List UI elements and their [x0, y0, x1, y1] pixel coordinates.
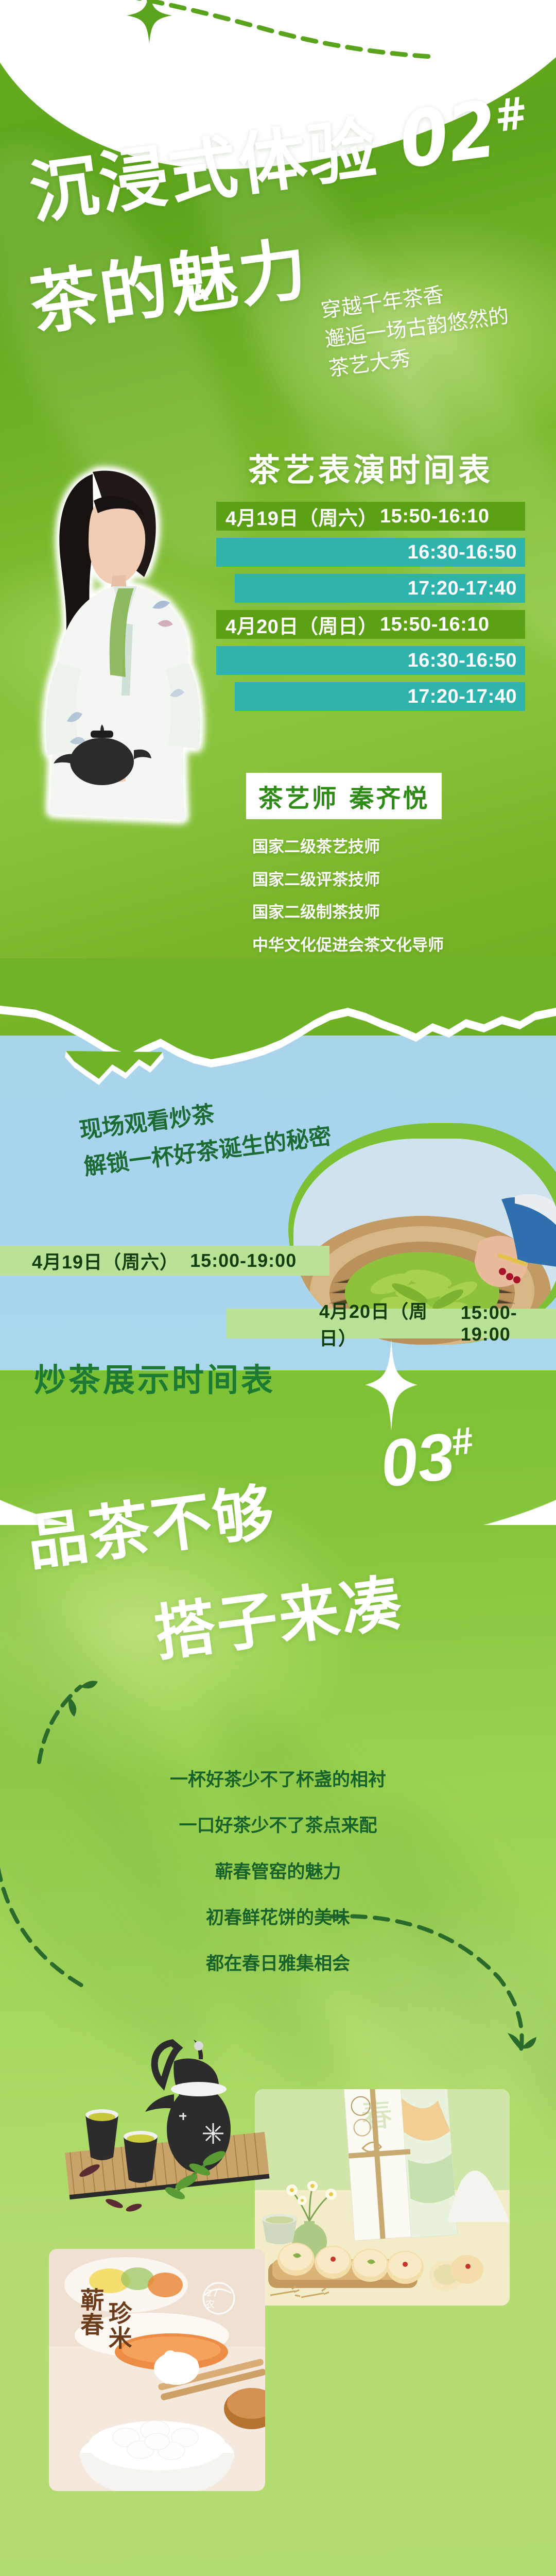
schedule-row: 17:20-17:40	[235, 574, 525, 603]
rice-brand-label-col2: 珍米	[106, 2301, 131, 2350]
body-line: 都在春日雅集相会	[0, 1941, 556, 1987]
schedule-row-time: 15:50-16:10	[380, 505, 490, 528]
schedule-row: 16:30-16:50	[216, 646, 525, 675]
stirfry-time: 15:00-19:00	[190, 1250, 297, 1272]
torn-paper-flap	[62, 1051, 165, 1087]
artist-credentials: 国家二级茶艺技师 国家二级评茶技师 国家二级制茶技师 中华文化促进会茶文化导师	[252, 831, 444, 961]
stirfry-date-bar: 4月20日（周日） 15:00-19:00	[227, 1309, 556, 1338]
svg-text:27: 27	[206, 2288, 218, 2299]
stirfry-date: 4月19日（周六）	[32, 1247, 179, 1274]
schedule-row-date: 4月20日（周日）	[225, 611, 380, 639]
schedule-title: 茶艺表演时间表	[216, 444, 525, 490]
schedule-row: 4月20日（周日） 15:50-16:10	[216, 610, 525, 639]
svg-text:农: 农	[205, 2299, 215, 2310]
schedule-row-date: 4月19日（周六）	[225, 502, 380, 531]
poster-page: 沉浸式体验 02# 茶的魅力 穿越千年茶香 邂逅一场古韵悠然的 茶艺大秀	[0, 0, 556, 2576]
peak-sparkle-icon	[360, 1340, 422, 1435]
credential-item: 国家二级评茶技师	[252, 863, 444, 896]
hero-badge-hash: #	[491, 87, 533, 143]
stirfry-schedule-title: 炒茶展示时间表	[34, 1354, 275, 1400]
body-line: 初春鲜花饼的美味	[0, 1895, 556, 1941]
section3-badge-number: 03	[376, 1419, 459, 1501]
artist-name: 茶艺师 秦齐悦	[258, 778, 430, 814]
stirfry-time: 15:00-19:00	[461, 1302, 556, 1345]
schedule-row: 17:20-17:40	[235, 682, 525, 711]
tea-set-photo	[51, 2012, 293, 2218]
rice-brand-label-col1: 蕲春	[78, 2287, 103, 2337]
credential-item: 中华文化促进会茶文化导师	[252, 929, 444, 962]
rice-brand-label: 蕲春珍米	[78, 2287, 181, 2350]
artist-nameplate: 茶艺师 秦齐悦	[246, 773, 442, 819]
hero-title-line2: 茶的魅力	[23, 214, 314, 348]
credential-item: 国家二级制茶技师	[252, 896, 444, 929]
schedule-row-time: 17:20-17:40	[407, 686, 517, 708]
body-line: 一口好茶少不了茶点来配	[0, 1803, 556, 1849]
section3-badge: 03#	[376, 1415, 480, 1502]
tea-artist-photo	[15, 453, 232, 835]
body-line: 一杯好茶少不了杯盏的相衬	[0, 1757, 556, 1803]
body-line: 蕲春管窑的魅力	[0, 1849, 556, 1895]
stirfry-date-bar: 4月19日（周六） 15:00-19:00	[0, 1246, 329, 1276]
credential-item: 国家二级茶艺技师	[252, 831, 444, 863]
schedule-row: 4月19日（周六） 15:50-16:10	[216, 502, 525, 531]
schedule-row-time: 16:30-16:50	[407, 650, 517, 672]
hero-badge-number: 02	[394, 84, 502, 186]
sparkle-icon	[118, 0, 180, 46]
section3-body-text: 一杯好茶少不了杯盏的相衬 一口好茶少不了茶点来配 蕲春管窑的魅力 初春鲜花饼的美…	[0, 1757, 556, 1987]
schedule-row-time: 17:20-17:40	[407, 578, 517, 600]
schedule-row-time: 15:50-16:10	[380, 614, 490, 636]
schedule-row-time: 16:30-16:50	[407, 541, 517, 564]
schedule-row: 16:30-16:50	[216, 538, 525, 567]
stirfry-date: 4月20日（周日）	[319, 1297, 450, 1350]
tea-performance-schedule: 茶艺表演时间表 4月19日（周六） 15:50-16:10 16:30-16:5…	[216, 444, 525, 718]
rice-photo: 27 农	[49, 2249, 265, 2491]
